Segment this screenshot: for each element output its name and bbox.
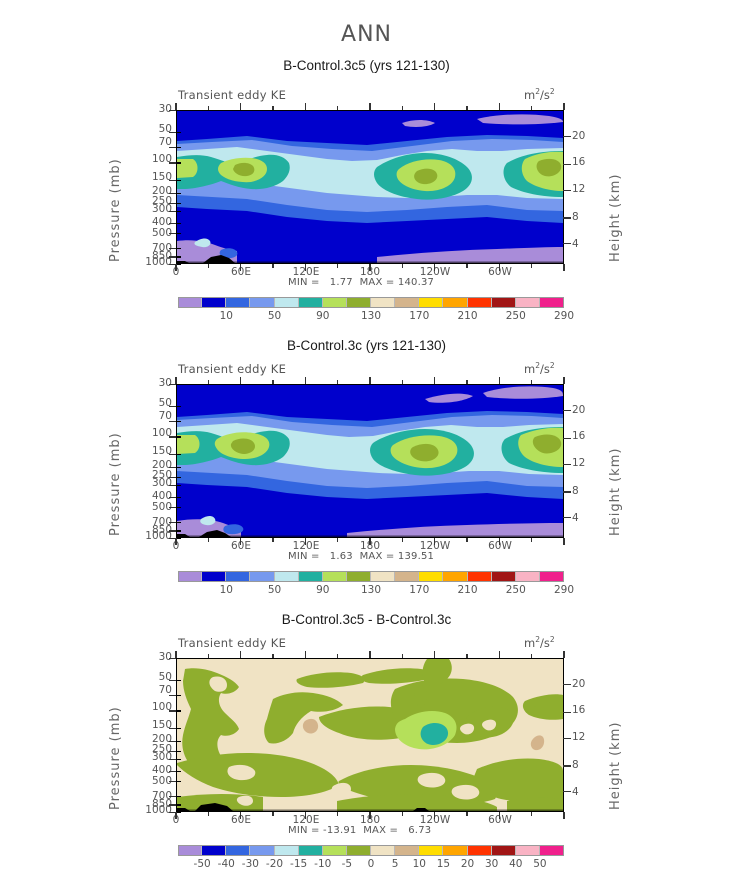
- ytick-mark-right: [563, 217, 571, 218]
- panel-1-ylabel-right: Height (km): [608, 112, 623, 262]
- xtick-mark-top: [563, 103, 564, 110]
- ytick-label: 500: [132, 502, 172, 512]
- ytick-label-right: 4: [572, 513, 602, 523]
- colorbar-tick-label: 10: [206, 310, 246, 322]
- ytick-label-right: 8: [572, 212, 602, 222]
- xtick-label: 0: [151, 541, 201, 552]
- panel-2-variable-label: Transient eddy KE: [178, 362, 286, 376]
- xtick-mark-top: [175, 103, 176, 110]
- ytick-label-right: 20: [572, 405, 602, 415]
- max-value: 6.73: [408, 825, 431, 836]
- ytick-label-right: 8: [572, 486, 602, 496]
- xtick-mark-top: [563, 377, 564, 384]
- xtick-mark: [272, 538, 273, 542]
- colorbar-tick-label: 130: [351, 584, 391, 596]
- panel-3-plot-frame: [176, 658, 564, 812]
- ytick-label: 1000: [132, 531, 172, 541]
- ytick-label: 400: [132, 765, 172, 775]
- xtick-mark-top: [305, 651, 306, 658]
- colorbar-tick-label: 50: [255, 584, 295, 596]
- colorbar-tick-label: 290: [544, 310, 584, 322]
- panel-2-title: B-Control.3c (yrs 121-130): [0, 338, 733, 353]
- ytick-label-right: 4: [572, 239, 602, 249]
- ytick-label-right: 12: [572, 184, 602, 194]
- xtick-mark: [337, 264, 338, 268]
- xtick-mark: [337, 812, 338, 816]
- panel-3-ylabel-right: Height (km): [608, 660, 623, 810]
- min-label: MIN =: [288, 551, 320, 562]
- ytick-label: 30: [132, 652, 172, 662]
- panel-1-colorbar-border: [178, 297, 564, 308]
- ytick-mark-right: [563, 491, 571, 492]
- colorbar-tick-label: 90: [303, 584, 343, 596]
- colorbar-tick-label: 250: [496, 310, 536, 322]
- xtick-mark-top: [499, 651, 500, 658]
- ytick-label: 70: [132, 137, 172, 147]
- ytick-label: 400: [132, 217, 172, 227]
- xtick-mark-top: [563, 651, 564, 658]
- ytick-label: 100: [132, 154, 172, 164]
- xtick-mark-top: [499, 377, 500, 384]
- panel-1-units-label: m2/s2: [524, 87, 555, 102]
- colorbar-tick-label: 50: [255, 310, 295, 322]
- ytick-mark-right: [563, 517, 571, 518]
- xtick-mark-top: [499, 103, 500, 110]
- ytick-mark-right: [563, 738, 571, 739]
- xtick-mark: [272, 812, 273, 816]
- xtick-label: 60W: [475, 267, 525, 278]
- panel-3-ylabel-left: Pressure (mb): [108, 660, 123, 810]
- xtick-label: 60E: [216, 267, 266, 278]
- ytick-label: 150: [132, 446, 172, 456]
- xtick-mark: [563, 264, 564, 271]
- ytick-label-right: 12: [572, 732, 602, 742]
- ytick-label: 1000: [132, 805, 172, 815]
- ytick-label: 500: [132, 228, 172, 238]
- panel-1-title: B-Control.3c5 (yrs 121-130): [0, 58, 733, 73]
- xtick-mark: [208, 538, 209, 542]
- panel-1-contour-field: [177, 111, 563, 263]
- ytick-mark-right: [563, 190, 571, 191]
- ytick-label: 300: [132, 204, 172, 214]
- xtick-mark: [531, 264, 532, 268]
- ytick-label-right: 16: [572, 431, 602, 441]
- panel-3-contour-field: [177, 659, 563, 811]
- min-value: 1.63: [330, 551, 353, 562]
- xtick-mark: [531, 538, 532, 542]
- xtick-mark-top: [434, 651, 435, 658]
- colorbar-tick-label: 210: [448, 584, 488, 596]
- panel-3-units-label: m2/s2: [524, 635, 555, 650]
- max-value: 139.51: [398, 551, 434, 562]
- min-label: MIN =: [288, 825, 320, 836]
- xtick-mark: [466, 538, 467, 542]
- ytick-mark-right: [563, 164, 571, 165]
- ytick-mark-right: [563, 464, 571, 465]
- colorbar-tick-label: 170: [399, 310, 439, 322]
- xtick-label: 0: [151, 267, 201, 278]
- panel-1-plot-frame: [176, 110, 564, 264]
- xtick-mark-top: [240, 103, 241, 110]
- ytick-label: 400: [132, 491, 172, 501]
- xtick-mark-top: [305, 103, 306, 110]
- xtick-mark-top: [305, 377, 306, 384]
- xtick-mark: [272, 264, 273, 268]
- xtick-mark: [466, 264, 467, 268]
- colorbar-tick-label: 10: [206, 584, 246, 596]
- colorbar-tick-label: 130: [351, 310, 391, 322]
- colorbar-tick-label: 290: [544, 584, 584, 596]
- xtick-mark-top: [175, 377, 176, 384]
- ytick-label-right: 16: [572, 705, 602, 715]
- xtick-mark: [563, 812, 564, 819]
- panel-1-ylabel-left: Pressure (mb): [108, 112, 123, 262]
- xtick-mark-top: [369, 103, 370, 110]
- ytick-label: 50: [132, 672, 172, 682]
- panel-2-plot-frame: [176, 384, 564, 538]
- xtick-mark-top: [240, 651, 241, 658]
- ytick-label: 30: [132, 104, 172, 114]
- xtick-label: 60W: [475, 541, 525, 552]
- xtick-mark: [563, 538, 564, 545]
- ytick-label: 500: [132, 776, 172, 786]
- panel-2-contour-field: [177, 385, 563, 537]
- ytick-label: 300: [132, 752, 172, 762]
- xtick-mark-top: [369, 651, 370, 658]
- min-value: 1.77: [330, 277, 353, 288]
- ytick-label: 1000: [132, 257, 172, 267]
- panel-1-minmax: MIN = 1.77 MAX = 140.37: [288, 277, 434, 288]
- ytick-mark-right: [563, 438, 571, 439]
- ytick-label: 50: [132, 398, 172, 408]
- ytick-label-right: 4: [572, 787, 602, 797]
- ytick-mark-right: [563, 712, 571, 713]
- xtick-label: 60E: [216, 815, 266, 826]
- xtick-label: 60E: [216, 541, 266, 552]
- panel-2-minmax: MIN = 1.63 MAX = 139.51: [288, 551, 434, 562]
- xtick-label: 60W: [475, 815, 525, 826]
- xtick-mark: [402, 812, 403, 816]
- figure-canvas: ANN B-Control.3c5 (yrs 121-130) Transien…: [0, 0, 733, 873]
- xtick-mark: [402, 264, 403, 268]
- ytick-label: 150: [132, 172, 172, 182]
- ytick-mark-right: [563, 684, 571, 685]
- ytick-mark-right: [563, 243, 571, 244]
- figure-suptitle: ANN: [0, 22, 733, 47]
- ytick-mark-right: [563, 765, 571, 766]
- ytick-label: 300: [132, 478, 172, 488]
- max-label: MAX =: [360, 551, 395, 562]
- ytick-label: 30: [132, 378, 172, 388]
- ytick-label: 70: [132, 685, 172, 695]
- colorbar-tick-label: 210: [448, 310, 488, 322]
- colorbar-tick-label: 50: [520, 858, 560, 870]
- min-label: MIN =: [288, 277, 320, 288]
- panel-1-variable-label: Transient eddy KE: [178, 88, 286, 102]
- xtick-label: 0: [151, 815, 201, 826]
- ytick-label-right: 20: [572, 131, 602, 141]
- xtick-mark: [208, 812, 209, 816]
- panel-3-minmax: MIN = -13.91 MAX = 6.73: [288, 825, 431, 836]
- ytick-label: 100: [132, 428, 172, 438]
- colorbar-tick-label: 90: [303, 310, 343, 322]
- xtick-mark: [337, 538, 338, 542]
- min-value: -13.91: [323, 825, 356, 836]
- ytick-mark-right: [563, 410, 571, 411]
- panel-2-ylabel-left: Pressure (mb): [108, 386, 123, 536]
- ytick-label: 100: [132, 702, 172, 712]
- max-value: 140.37: [398, 277, 434, 288]
- xtick-mark: [208, 264, 209, 268]
- panel-3-variable-label: Transient eddy KE: [178, 636, 286, 650]
- max-label: MAX =: [363, 825, 398, 836]
- colorbar-tick-label: 170: [399, 584, 439, 596]
- panel-2-ylabel-right: Height (km): [608, 386, 623, 536]
- ytick-label-right: 8: [572, 760, 602, 770]
- ytick-label-right: 12: [572, 458, 602, 468]
- xtick-mark-top: [434, 103, 435, 110]
- max-label: MAX =: [360, 277, 395, 288]
- xtick-mark-top: [369, 377, 370, 384]
- ytick-mark-right: [563, 791, 571, 792]
- ytick-label: 70: [132, 411, 172, 421]
- xtick-mark-top: [175, 651, 176, 658]
- colorbar-tick-label: 250: [496, 584, 536, 596]
- ytick-label-right: 20: [572, 679, 602, 689]
- panel-3-title: B-Control.3c5 - B-Control.3c: [0, 612, 733, 627]
- panel-2-units-label: m2/s2: [524, 361, 555, 376]
- xtick-mark: [531, 812, 532, 816]
- xtick-mark-top: [240, 377, 241, 384]
- xtick-mark-top: [434, 377, 435, 384]
- panel-2-colorbar-border: [178, 571, 564, 582]
- xtick-mark: [466, 812, 467, 816]
- ytick-label-right: 16: [572, 157, 602, 167]
- xtick-mark: [402, 538, 403, 542]
- ytick-label: 50: [132, 124, 172, 134]
- panel-3-colorbar-border: [178, 845, 564, 856]
- ytick-label: 150: [132, 720, 172, 730]
- ytick-mark-right: [563, 136, 571, 137]
